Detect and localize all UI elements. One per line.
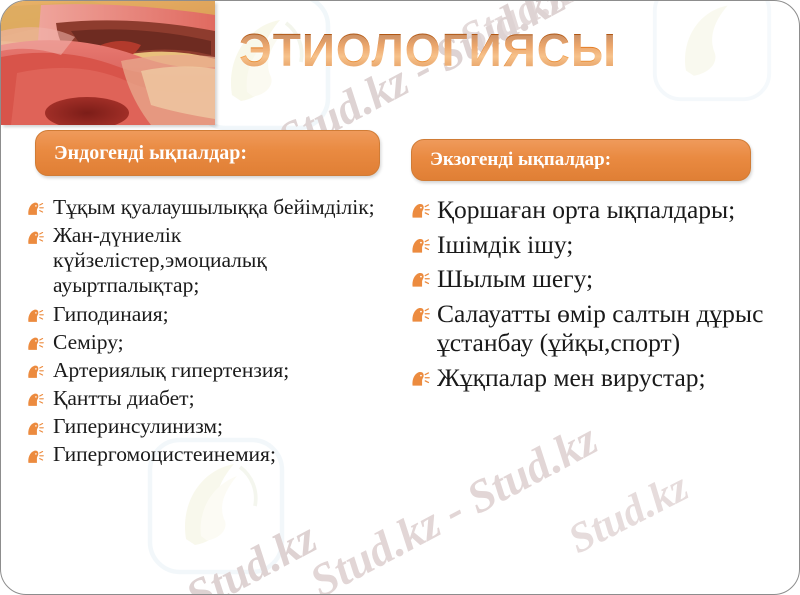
list-item: Гиподинаия; — [25, 302, 390, 327]
list-item-label: Жан-дүниелік күйзелістер,эмоциалық ауырт… — [53, 223, 267, 297]
list-item: Салауатты өмір салтын дұрыс ұстанбау (ұй… — [409, 299, 777, 358]
list-item: Тұқым қуалаушылыққа бейімділік; — [25, 195, 390, 220]
list-item: Қантты диабет; — [25, 386, 390, 411]
list-item: Жұқпалар мен вирустар; — [409, 363, 777, 393]
list-item-label: Артериялық гипертензия; — [53, 358, 289, 382]
list-item: Гиперинсулинизм; — [25, 414, 390, 439]
list-item: Гипергомоцистеинемия; — [25, 442, 390, 467]
speaking-head-icon — [27, 364, 44, 379]
section-heading-endogenous: Эндогенді ықпалдар: — [35, 130, 380, 176]
list-item-label: Ішімдік ішу; — [437, 230, 573, 259]
list-item-label: Қоршаған орта ықпалдары; — [437, 195, 735, 224]
list-item-label: Салауатты өмір салтын дұрыс ұстанбау (ұй… — [437, 299, 763, 358]
list-item: Семіру; — [25, 330, 390, 355]
list-item-label: Жұқпалар мен вирустар; — [437, 363, 706, 392]
slide-canvas: Stud.kz Stud.kz - Stud.kz kz Stud.kz - S… — [0, 0, 800, 595]
list-item: Қоршаған орта ықпалдары; — [409, 195, 777, 225]
brand-logo-watermark-right — [647, 0, 777, 107]
page-title: ЭТИОЛОГИЯСЫ — [239, 23, 639, 77]
exogenous-factors-list: Қоршаған орта ықпалдары; Ішімдік ішу; — [409, 195, 777, 392]
list-item-label: Гиподинаия; — [53, 302, 169, 326]
list-item: Шылым шегу; — [409, 264, 777, 294]
watermark-text: Stud.kz — [177, 511, 325, 595]
speaking-head-icon — [411, 237, 430, 254]
speaking-head-icon — [27, 201, 44, 216]
speaking-head-icon — [27, 421, 44, 436]
medical-illustration-image — [1, 1, 215, 125]
list-item-label: Гипергомоцистеинемия; — [53, 442, 276, 466]
exogenous-factors-column: Қоршаған орта ықпалдары; Ішімдік ішу; — [409, 195, 777, 397]
list-item-label: Гиперинсулинизм; — [53, 414, 223, 438]
list-item: Артериялық гипертензия; — [25, 358, 390, 383]
watermark-text: Stud.kz — [561, 463, 696, 564]
list-item-label: Тұқым қуалаушылыққа бейімділік; — [53, 195, 375, 219]
speaking-head-icon — [27, 392, 44, 407]
section-heading-exogenous: Экзогенді ықпалдар: — [411, 139, 751, 181]
list-item-label: Семіру; — [53, 330, 124, 354]
speaking-head-icon — [27, 230, 44, 245]
endogenous-factors-column: Тұқым қуалаушылыққа бейімділік; Жан-дүни… — [25, 195, 390, 470]
list-item: Ішімдік ішу; — [409, 230, 777, 260]
speaking-head-icon — [411, 271, 430, 288]
list-item-label: Қантты диабет; — [53, 386, 195, 410]
speaking-head-icon — [411, 370, 430, 387]
speaking-head-icon — [411, 202, 430, 219]
list-item: Жан-дүниелік күйзелістер,эмоциалық ауырт… — [25, 223, 390, 298]
speaking-head-icon — [411, 306, 430, 323]
list-item-label: Шылым шегу; — [437, 264, 593, 293]
speaking-head-icon — [27, 336, 44, 351]
endogenous-factors-list: Тұқым қуалаушылыққа бейімділік; Жан-дүни… — [25, 195, 390, 467]
speaking-head-icon — [27, 308, 44, 323]
speaking-head-icon — [27, 449, 44, 464]
